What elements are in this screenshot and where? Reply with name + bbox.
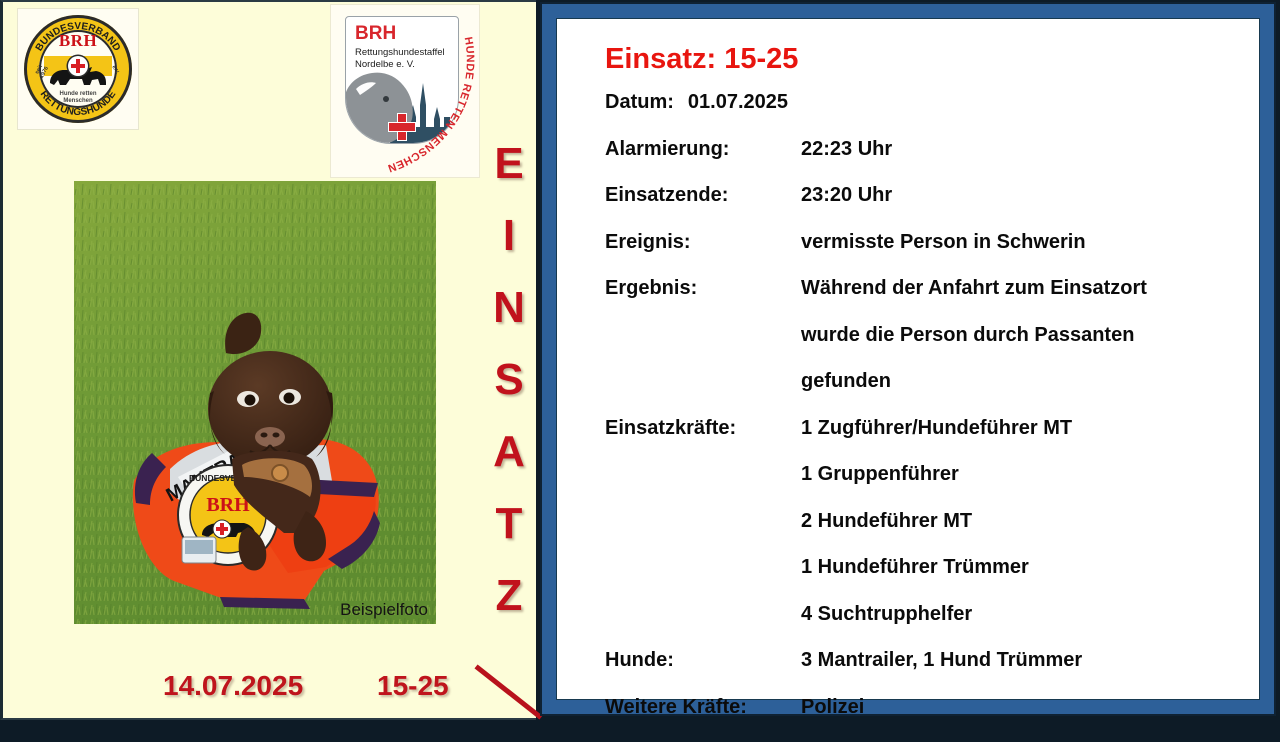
photo-caption: Beispielfoto [340,600,428,620]
label-einsatzkraefte: Einsatzkräfte: [605,417,801,440]
value-hunde: 3 Mantrailer, 1 Hund Trümmer [801,649,1082,672]
einsatz-letter-a: A [481,416,537,488]
info-rows: Datum: 01.07.2025 Alarmierung: 22:23 Uhr… [605,91,1245,742]
value-einsatzkraefte-4: 1 Hundeführer Trümmer [801,556,1029,579]
info-row-datum: Datum: 01.07.2025 [605,91,1245,138]
label-hunde: Hunde: [605,649,801,672]
photo-illustration: MANTRAILER BRH BUNDESVERBAND [74,181,436,624]
label-ergebnis: Ergebnis: [605,277,801,300]
footer-row: 14.07.2025 15-25 [3,670,539,712]
einsatz-letter-z: Z [481,560,537,632]
info-row-hunde: Hunde: 3 Mantrailer, 1 Hund Trümmer [605,649,1245,696]
brh-federal-logo: BUNDESVERBAND RETTUNGSHUNDE BRH seit 197… [17,8,139,130]
value-datum: 01.07.2025 [688,91,788,114]
value-weitere-kraefte: Polizei [801,696,864,719]
label-weitere-kraefte: Weitere Kräfte: [605,696,801,719]
info-row-ereignis: Ereignis: vermisste Person in Schwerin [605,231,1245,278]
value-alarmierung: 22:23 Uhr [801,138,892,161]
shield-motto-text: HUNDE RETTEN MENSCHEN! [331,5,476,174]
label-ereignis: Ereignis: [605,231,801,254]
einsatz-letter-t: T [481,488,537,560]
info-panel: Einsatz: 15-25 Datum: 01.07.2025 Alarmie… [556,18,1260,700]
diagonal-red-line [473,662,547,722]
red-cross-icon [68,56,88,76]
einsatz-letter-n: N [481,272,537,344]
footer-number: 15-25 [377,670,449,702]
label-einsatzende: Einsatzende: [605,184,801,207]
einsatz-letter-i: I [481,200,537,272]
label-alarmierung: Alarmierung: [605,138,801,161]
left-panel: BUNDESVERBAND RETTUNGSHUNDE BRH seit 197… [0,0,536,720]
value-ereignis: vermisste Person in Schwerin [801,231,1086,254]
poster: BUNDESVERBAND RETTUNGSHUNDE BRH seit 197… [0,0,1280,720]
info-row-einsatzkraefte-4: 1 Hundeführer Trümmer [605,556,1245,603]
info-row-ergebnis: Ergebnis: Während der Anfahrt zum Einsat… [605,277,1245,417]
info-panel-frame: Einsatz: 15-25 Datum: 01.07.2025 Alarmie… [540,2,1276,716]
label-datum: Datum: [605,91,674,114]
value-einsatzkraefte-3: 2 Hundeführer MT [801,510,972,533]
example-photo: MANTRAILER BRH BUNDESVERBAND [74,181,436,624]
einsatz-letter-s: S [481,344,537,416]
brh-nordelbe-logo: BRH Rettungshundestaffel Nordelbe e. V. … [330,4,480,178]
value-ergebnis: Während der Anfahrt zum Einsatzort wurde… [801,277,1147,417]
einsatz-letter-e: E [481,128,537,200]
value-einsatzkraefte-5: 4 Suchtrupphelfer [801,603,972,626]
value-einsatzkraefte-2: 1 Gruppenführer [801,463,959,486]
info-row-einsatzkraefte-5: 4 Suchtrupphelfer [605,603,1245,650]
logo-motto-text: Hunde retten Menschen [48,91,108,105]
value-einsatzende: 23:20 Uhr [801,184,892,207]
info-row-alarmierung: Alarmierung: 22:23 Uhr [605,138,1245,185]
einsatz-vertical-title: E I N S A T Z [481,128,537,632]
logo-brh-text: BRH [18,31,138,51]
info-title: Einsatz: 15-25 [605,43,798,76]
value-einsatzkraefte-1: 1 Zugführer/Hundeführer MT [801,417,1072,440]
info-row-einsatzkraefte-3: 2 Hundeführer MT [605,510,1245,557]
value-ergebnis-line3: gefunden [801,370,1147,417]
info-row-einsatzende: Einsatzende: 23:20 Uhr [605,184,1245,231]
value-ergebnis-line2: wurde die Person durch Passanten [801,324,1147,371]
shield-motto-arc: HUNDE RETTEN MENSCHEN! [331,5,479,177]
info-row-einsatzkraefte-2: 1 Gruppenführer [605,463,1245,510]
value-ergebnis-line1: Während der Anfahrt zum Einsatzort [801,277,1147,324]
info-row-weitere-kraefte: Weitere Kräfte: Polizei [605,696,1245,742]
footer-date: 14.07.2025 [163,670,303,702]
info-row-einsatzkraefte: Einsatzkräfte: 1 Zugführer/Hundeführer M… [605,417,1245,464]
